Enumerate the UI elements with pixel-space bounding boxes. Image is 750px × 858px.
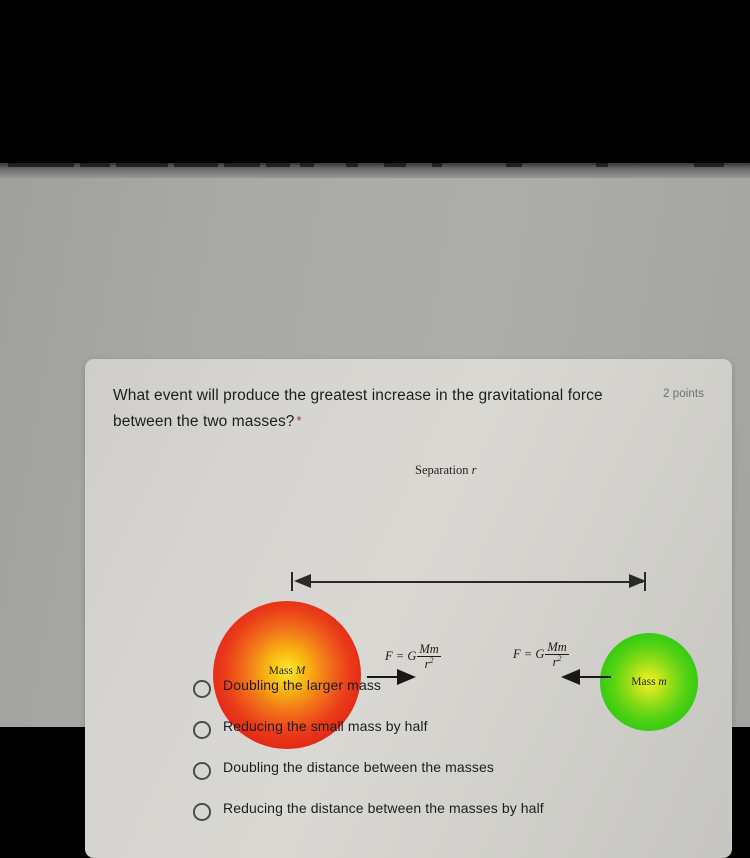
separation-label: Separation r <box>415 463 476 478</box>
answer-options: Doubling the larger mass Reducing the sm… <box>109 669 709 833</box>
gravitation-diagram: Separation r Mass M Mass <box>95 455 722 655</box>
force-formula-left-numerator: Mm <box>417 643 440 656</box>
points-badge: 2 points <box>663 388 704 400</box>
option-row-1[interactable]: Doubling the larger mass <box>109 669 709 710</box>
option-label-1[interactable]: Doubling the larger mass <box>223 677 381 693</box>
radio-button-2[interactable] <box>193 721 211 739</box>
force-formula-left: F = G Mm r2 <box>385 643 441 671</box>
page-background: What event will produce the greatest inc… <box>0 163 750 727</box>
force-formula-left-exponent: 2 <box>430 656 434 665</box>
force-formula-left-lhs: F = G <box>385 649 416 663</box>
radio-button-4[interactable] <box>193 803 211 821</box>
option-label-4[interactable]: Reducing the distance between the masses… <box>223 800 544 816</box>
force-formula-right-numerator: Mm <box>545 641 568 654</box>
radio-button-3[interactable] <box>193 762 211 780</box>
option-label-3[interactable]: Doubling the distance between the masses <box>223 759 494 775</box>
required-asterisk: * <box>297 413 302 428</box>
separation-arrowhead-right-icon <box>629 574 646 588</box>
question-card: What event will produce the greatest inc… <box>85 359 732 858</box>
option-row-4[interactable]: Reducing the distance between the masses… <box>109 792 709 833</box>
question-text: What event will produce the greatest inc… <box>113 387 603 430</box>
screen-photo: What event will produce the greatest inc… <box>0 0 750 750</box>
cropped-toolbar-sliver <box>0 163 750 178</box>
force-formula-right-lhs: F = G <box>513 647 544 661</box>
force-formula-right-exponent: 2 <box>558 654 562 663</box>
radio-button-1[interactable] <box>193 680 211 698</box>
separation-arrowhead-left-icon <box>294 574 311 588</box>
force-formula-right: F = G Mm r2 <box>513 641 569 669</box>
separation-line <box>303 581 643 583</box>
separation-label-text: Separation <box>415 463 468 477</box>
option-label-2[interactable]: Reducing the small mass by half <box>223 718 428 734</box>
option-row-2[interactable]: Reducing the small mass by half <box>109 710 709 751</box>
option-row-3[interactable]: Doubling the distance between the masses <box>109 751 709 792</box>
question-title: What event will produce the greatest inc… <box>113 383 643 434</box>
separation-label-symbol: r <box>472 463 477 477</box>
